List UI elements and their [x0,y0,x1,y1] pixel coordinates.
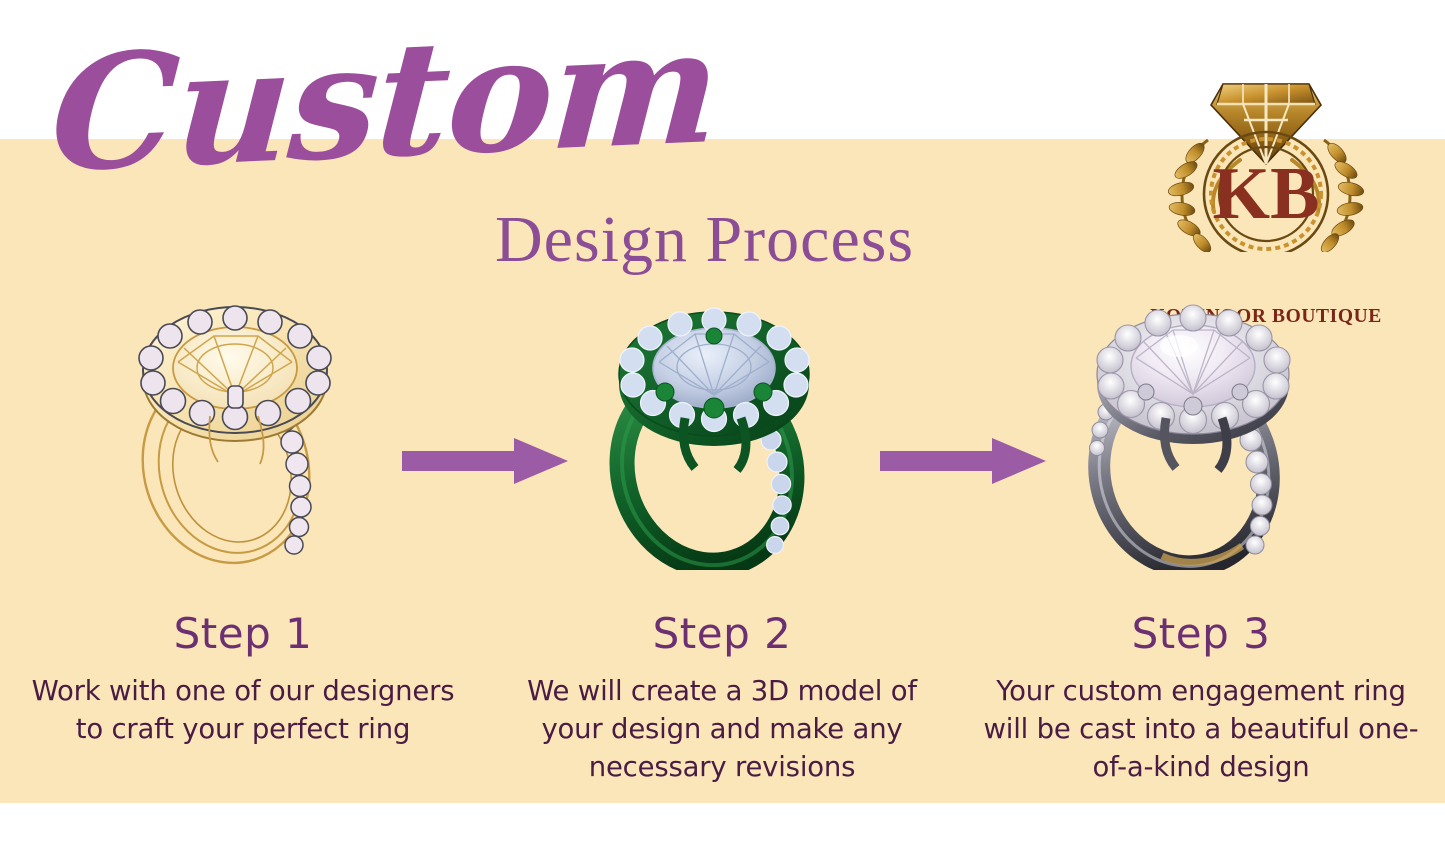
logo-mark: KB [1148,52,1384,252]
background-band-white-bottom [0,803,1445,849]
finished-center-sparkle [1160,335,1198,357]
step-title-3: Step 3 [966,610,1436,658]
step-card-1: Step 1 Work with one of our designers to… [8,300,478,800]
step-description-2: We will create a 3D model of your design… [495,672,949,786]
right-arrow-icon [402,438,568,484]
ring-finished-illustration [1076,300,1326,570]
step-description-1: Work with one of our designers to craft … [16,672,470,748]
custom-design-process-infographic: Custom Design Process [0,0,1445,849]
kb-monogram: KB [1213,153,1320,235]
brand-logo: KB KOHINOOR BOUTIQUE [1148,52,1384,284]
halo-head [139,306,331,441]
center-prong [228,386,243,408]
ring-sketch-illustration [118,300,368,570]
right-arrow-icon [880,438,1046,484]
steps-row: Step 1 Work with one of our designers to… [0,300,1445,800]
page-subtitle: Design Process [495,204,914,276]
step-title-1: Step 1 [8,610,478,658]
kb-crest-icon: KB [1148,52,1384,252]
arrow-step1-to-step2 [402,437,569,485]
step-card-2: Step 2 We will create a 3D model of your… [487,300,957,800]
step-title-2: Step 2 [487,610,957,658]
step-description-3: Your custom engagement ring will be cast… [974,672,1428,786]
page-title: Custom [45,0,701,223]
step-card-3: Step 3 Your custom engagement ring will … [966,300,1436,800]
ring-cad-illustration [597,300,847,570]
arrow-step2-to-step3 [880,437,1047,485]
